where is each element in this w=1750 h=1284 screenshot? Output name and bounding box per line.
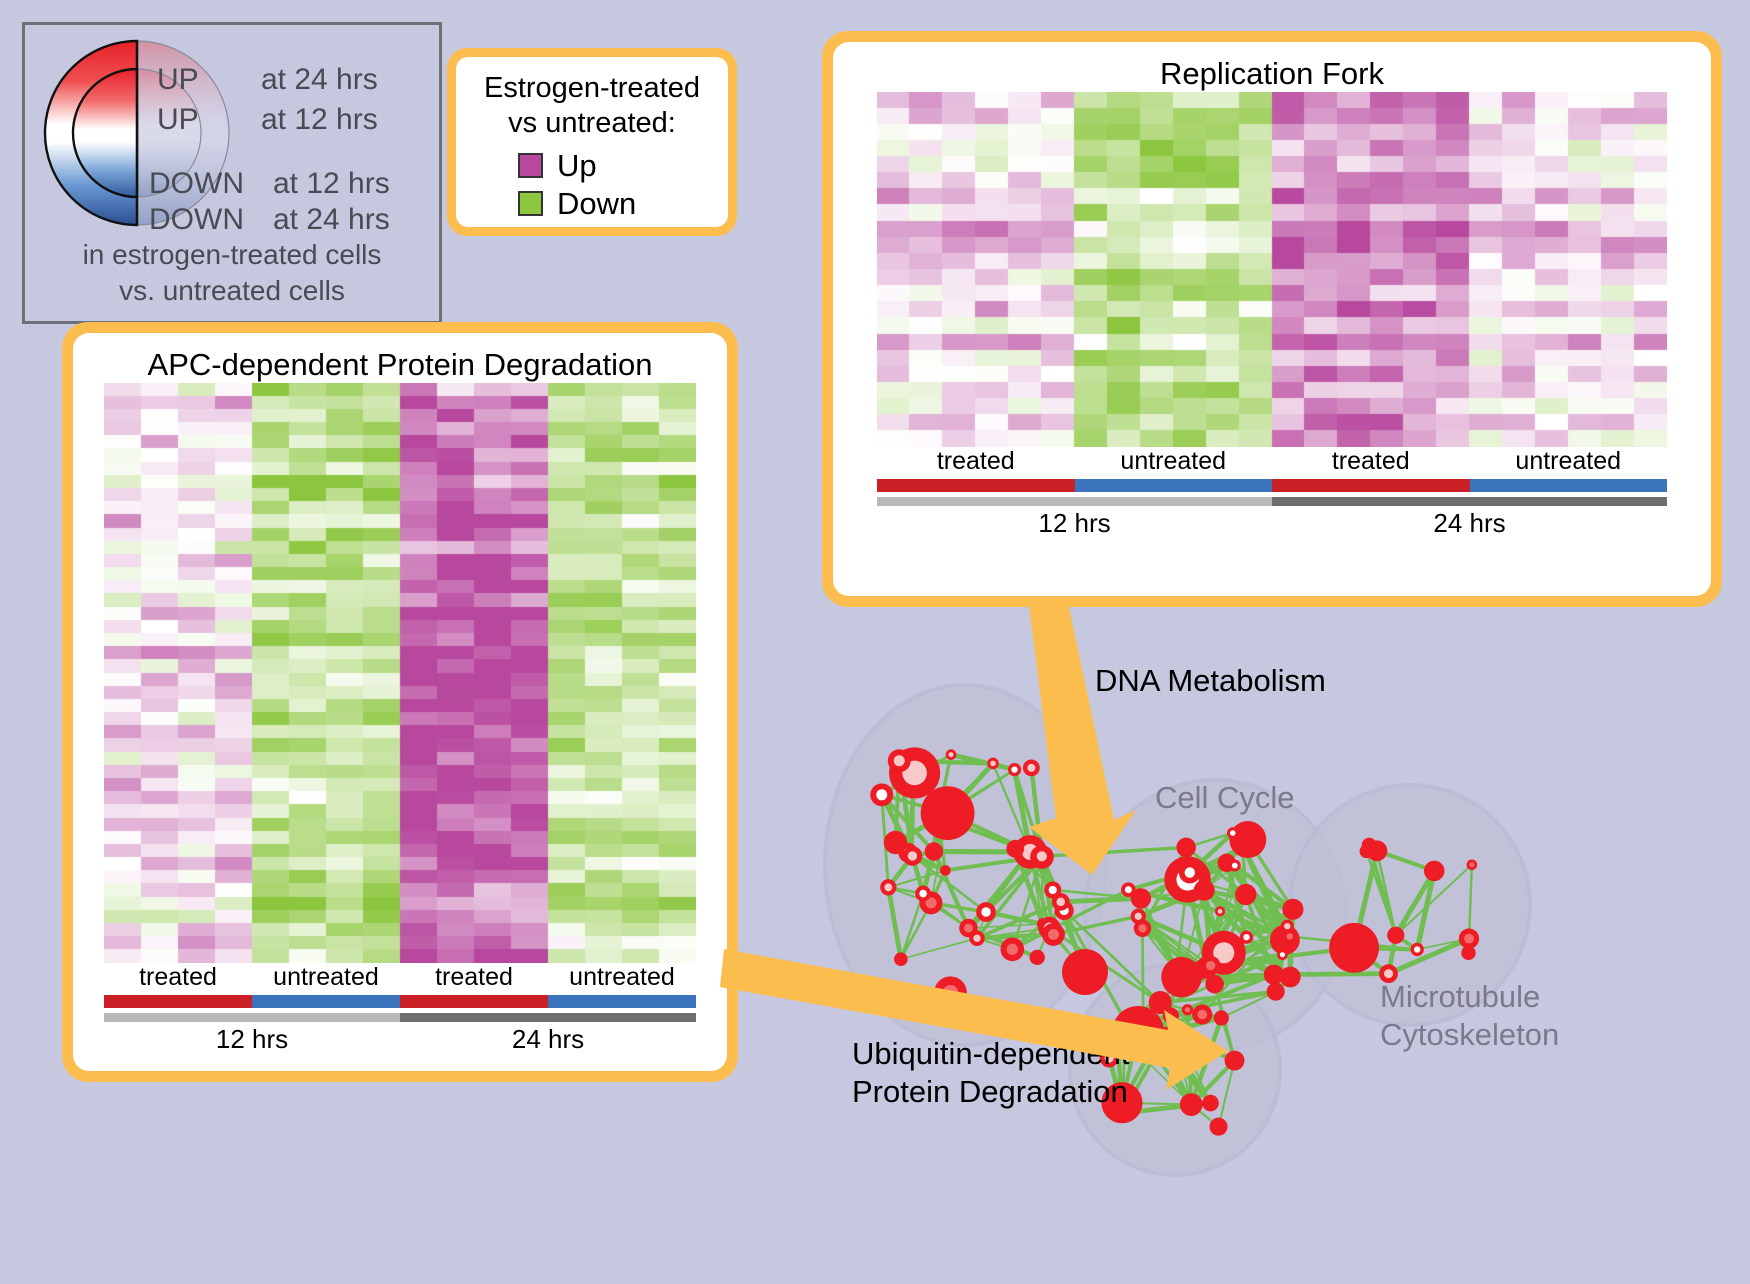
heatmap-apc-degradation — [104, 383, 696, 963]
key-state-down-12: DOWN — [149, 167, 244, 201]
cluster-label-mt-line1: Microtubule — [1380, 978, 1559, 1016]
network-node-core — [1284, 923, 1290, 929]
cluster-label-microtubule-cytoskeleton: Microtubule Cytoskeleton — [1380, 978, 1559, 1054]
network-node-core — [1206, 961, 1215, 970]
treatment-bar-rf-2 — [1272, 479, 1470, 492]
color-key-footer: in estrogen-treated cells vs. untreated … — [25, 237, 439, 309]
panel-title-apc: APC-dependent Protein Degradation — [87, 347, 713, 383]
sample-group-labels-rf: treated untreated treated untreated — [877, 447, 1667, 476]
treatment-color-bar-apc — [104, 995, 696, 1008]
time-labels-rf: 12 hrs 24 hrs — [877, 508, 1667, 539]
network-node[interactable] — [1214, 1010, 1229, 1025]
key-state-up-24: UP — [157, 63, 199, 97]
network-node[interactable] — [1267, 983, 1285, 1001]
network-node[interactable] — [1062, 949, 1108, 995]
down-swatch-icon — [518, 191, 543, 216]
group-label-apc-2: treated — [400, 963, 548, 992]
group-label-apc-3: untreated — [548, 963, 696, 992]
network-node[interactable] — [925, 842, 943, 860]
treatment-bar-apc-1 — [252, 995, 400, 1008]
network-node-core — [908, 851, 917, 860]
cluster-label-ub-line1: Ubiquitin-dependent — [852, 1035, 1130, 1073]
cluster-label-ubiquitin-degradation: Ubiquitin-dependent Protein Degradation — [852, 1035, 1130, 1111]
network-node[interactable] — [1264, 965, 1284, 985]
network-node-core — [1197, 1010, 1207, 1020]
network-node[interactable] — [1282, 899, 1303, 920]
time-label-rf-12: 12 hrs — [877, 508, 1272, 539]
network-node-core — [1469, 862, 1474, 867]
network-node-core — [894, 755, 905, 766]
network-node-core — [876, 789, 887, 800]
cluster-label-mt-line2: Cytoskeleton — [1380, 1016, 1559, 1054]
key-time-up-24: at 24 hrs — [261, 63, 378, 97]
legend-title-line1: Estrogen-treated — [462, 71, 722, 106]
network-node-core — [1280, 952, 1285, 957]
network-node-core — [943, 985, 959, 1001]
legend-item-up: Up — [518, 148, 722, 184]
network-node[interactable] — [1194, 880, 1215, 901]
panel-title-replication-fork: Replication Fork — [847, 56, 1697, 92]
group-label-rf-1: untreated — [1075, 447, 1273, 476]
network-node-core — [1464, 934, 1474, 944]
time-bar-apc-12 — [104, 1013, 400, 1022]
key-state-down-24: DOWN — [149, 203, 244, 237]
treatment-bar-apc-3 — [548, 995, 696, 1008]
network-node-core — [1125, 886, 1132, 893]
network-node[interactable] — [1235, 884, 1256, 905]
network-node[interactable] — [1202, 1095, 1219, 1112]
network-node[interactable] — [1030, 950, 1045, 965]
group-label-rf-3: untreated — [1470, 447, 1668, 476]
network-node-core — [1232, 863, 1238, 869]
time-label-rf-24: 24 hrs — [1272, 508, 1667, 539]
network-node[interactable] — [1225, 1051, 1245, 1071]
network-node-core — [990, 761, 996, 767]
group-label-rf-2: treated — [1272, 447, 1470, 476]
time-bar-apc-24 — [400, 1013, 696, 1022]
time-label-apc-24: 24 hrs — [400, 1024, 696, 1055]
time-bar-rf-12 — [877, 497, 1272, 506]
network-node-core — [964, 924, 973, 933]
network-node-core — [919, 890, 927, 898]
color-key-footer-line2: vs. untreated cells — [25, 273, 439, 309]
group-label-apc-1: untreated — [252, 963, 400, 992]
time-color-bar-apc — [104, 1013, 696, 1022]
treatment-bar-apc-0 — [104, 995, 252, 1008]
updown-legend-box: Estrogen-treated vs untreated: Up Down — [447, 48, 737, 236]
network-node-core — [1135, 913, 1142, 920]
treatment-bar-apc-2 — [400, 995, 548, 1008]
network-node[interactable] — [894, 952, 908, 966]
legend-items: Up Down — [462, 148, 722, 222]
network-node-core — [1218, 909, 1223, 914]
network-svg — [760, 600, 1750, 1279]
legend-title-line2: vs untreated: — [462, 106, 722, 141]
key-time-down-12: at 12 hrs — [273, 167, 390, 201]
network-node[interactable] — [1210, 1118, 1228, 1136]
panel-apc-degradation: APC-dependent Protein Degradation treate… — [62, 322, 738, 1082]
network-node-core — [1027, 764, 1035, 772]
key-time-down-24: at 24 hrs — [273, 203, 390, 237]
time-label-apc-12: 12 hrs — [104, 1024, 400, 1055]
network-node-core — [1414, 946, 1420, 952]
time-labels-apc: 12 hrs 24 hrs — [104, 1024, 696, 1055]
treatment-color-bar-rf — [877, 479, 1667, 492]
network-node[interactable] — [931, 810, 945, 824]
cluster-label-cell-cycle: Cell Cycle — [1155, 780, 1295, 816]
network-node[interactable] — [1362, 838, 1377, 853]
network-node[interactable] — [1176, 838, 1196, 858]
network-node[interactable] — [1424, 861, 1445, 882]
network-node-core — [1287, 933, 1293, 939]
network-node-core — [1048, 929, 1059, 940]
network-node[interactable] — [1233, 837, 1251, 855]
network-node[interactable] — [1461, 946, 1475, 960]
network-node[interactable] — [1387, 927, 1404, 944]
network-node-core — [1007, 944, 1018, 955]
up-swatch-icon — [518, 153, 543, 178]
network-node-core — [1243, 934, 1249, 940]
legend-title: Estrogen-treated vs untreated: — [462, 71, 722, 142]
treatment-bar-rf-1 — [1075, 479, 1273, 492]
panel-replication-fork: Replication Fork treated untreated treat… — [822, 31, 1722, 607]
network-node[interactable] — [1006, 840, 1024, 858]
sample-group-labels-apc: treated untreated treated untreated — [104, 963, 696, 992]
network-node-core — [884, 883, 892, 891]
color-key-box: UP at 24 hrs UP at 12 hrs DOWN at 12 hrs… — [22, 22, 442, 324]
network-node-core — [1049, 886, 1057, 894]
color-key-footer-line1: in estrogen-treated cells — [25, 237, 439, 273]
network-node-core — [1138, 924, 1146, 932]
network-node-core — [1185, 1007, 1190, 1012]
network-node-core — [1011, 766, 1017, 772]
treatment-bar-rf-3 — [1470, 479, 1668, 492]
treatment-bar-rf-0 — [877, 479, 1075, 492]
cluster-label-ub-line2: Protein Degradation — [852, 1073, 1130, 1111]
network-node-core — [973, 935, 980, 942]
group-label-apc-0: treated — [104, 963, 252, 992]
network-node-core — [1185, 867, 1195, 877]
time-color-bar-rf — [877, 497, 1667, 506]
legend-label-down: Down — [557, 186, 636, 222]
group-label-rf-0: treated — [877, 447, 1075, 476]
key-time-up-12: at 12 hrs — [261, 103, 378, 137]
legend-label-up: Up — [557, 148, 597, 184]
legend-item-down: Down — [518, 186, 722, 222]
network-node-core — [1037, 851, 1047, 861]
network-node-core — [1230, 830, 1236, 836]
cluster-label-dna-metabolism: DNA Metabolism — [1095, 663, 1326, 699]
network-node[interactable] — [1180, 1093, 1203, 1116]
network-diagram: DNA Metabolism Cell Cycle Microtubule Cy… — [760, 600, 1750, 1279]
network-node[interactable] — [921, 786, 975, 840]
time-bar-rf-24 — [1272, 497, 1667, 506]
network-node[interactable] — [1329, 923, 1379, 973]
network-node-core — [948, 752, 953, 757]
key-state-up-12: UP — [157, 103, 199, 137]
network-node[interactable] — [940, 865, 951, 876]
network-node-core — [981, 907, 990, 916]
heatmap-replication-fork — [877, 92, 1667, 447]
network-node-core — [1056, 898, 1065, 907]
network-node-core — [1384, 969, 1393, 978]
